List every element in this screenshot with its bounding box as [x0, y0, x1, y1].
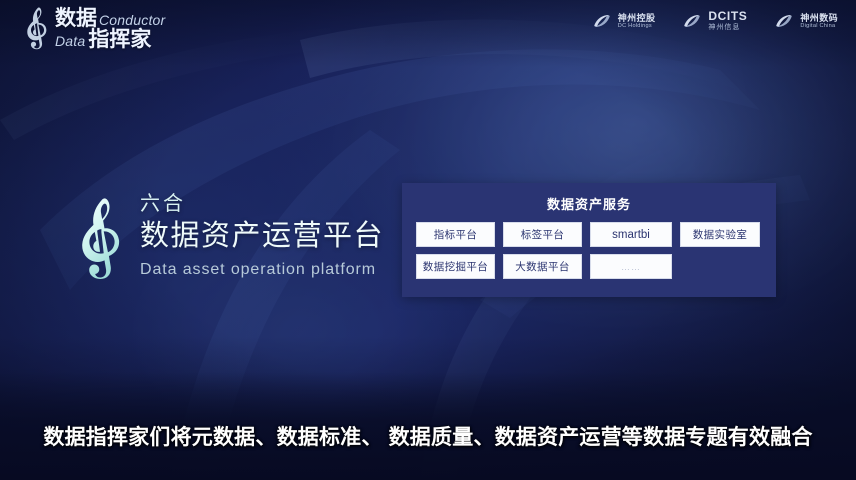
brand-logo[interactable]: 数据 Conductor Data 指挥家 — [22, 5, 165, 51]
hero-subtitle: Data asset operation platform — [140, 261, 384, 279]
panel-chip-grid: 指标平台 标签平台 smartbi 数据实验室 数据挖掘平台 大数据平台 …… — [416, 222, 762, 279]
brand-cn-2: 指挥家 — [88, 29, 151, 50]
chip-smartbi[interactable]: smartbi — [590, 222, 672, 247]
treble-clef-icon — [22, 5, 52, 51]
corp-name-en: 神州信息 — [708, 24, 747, 32]
brand-en-1: Conductor — [99, 13, 165, 27]
hero-main-title: 数据资产运营平台 — [140, 218, 384, 256]
hero-text: 六合 数据资产运营平台 Data asset operation platfor… — [140, 186, 384, 279]
corp-name-cn: DCITS — [708, 10, 747, 24]
swirl-logo-icon — [591, 10, 613, 32]
panel-row: 指标平台 标签平台 smartbi 数据实验室 — [416, 222, 762, 247]
corp-logo-digital-china[interactable]: 神州数码 Digital China — [773, 10, 838, 32]
treble-clef-icon — [72, 192, 130, 284]
data-asset-service-panel: 数据资产服务 指标平台 标签平台 smartbi 数据实验室 数据挖掘平台 大数… — [402, 183, 776, 297]
slide-root: 数据 Conductor Data 指挥家 神州控股 DC Holdings — [0, 0, 856, 480]
corp-logo-dcits[interactable]: DCITS 神州信息 — [681, 10, 747, 32]
chip-tag-platform[interactable]: 标签平台 — [503, 222, 582, 247]
corp-logo-dc-holdings[interactable]: 神州控股 DC Holdings — [591, 10, 656, 32]
corp-name-cn: 神州数码 — [800, 13, 838, 23]
brand-line-1: 数据 Conductor — [55, 8, 165, 29]
swirl-logo-icon — [681, 10, 703, 32]
chip-indicator-platform[interactable]: 指标平台 — [416, 222, 495, 247]
corp-logo-text: 神州数码 Digital China — [800, 13, 838, 30]
chip-big-data-platform[interactable]: 大数据平台 — [503, 254, 582, 279]
brand-wordmark: 数据 Conductor Data 指挥家 — [55, 6, 165, 50]
header-bar: 数据 Conductor Data 指挥家 神州控股 DC Holdings — [0, 0, 856, 58]
brand-line-2: Data 指挥家 — [55, 29, 165, 50]
chip-more-ellipsis[interactable]: …… — [590, 254, 672, 279]
corp-name-cn: 神州控股 — [618, 13, 656, 23]
swirl-logo-icon — [773, 10, 795, 32]
panel-title: 数据资产服务 — [402, 183, 776, 213]
corp-logo-text: DCITS 神州信息 — [708, 10, 747, 32]
brand-en-2: Data — [55, 34, 85, 48]
hero-title-block: 六合 数据资产运营平台 Data asset operation platfor… — [72, 186, 384, 284]
corp-name-en: DC Holdings — [618, 23, 656, 29]
caption-text: 数据指挥家们将元数据、数据标准、 数据质量、数据资产运营等数据专题有效融合 — [0, 421, 856, 451]
brand-cn-1: 数据 — [55, 8, 97, 29]
chip-data-mining-platform[interactable]: 数据挖掘平台 — [416, 254, 495, 279]
corp-logo-text: 神州控股 DC Holdings — [618, 13, 656, 30]
corp-name-en: Digital China — [800, 23, 838, 29]
hero-small-title: 六合 — [140, 192, 384, 217]
corporate-logo-group: 神州控股 DC Holdings DCITS 神州信息 — [591, 10, 838, 32]
panel-row: 数据挖掘平台 大数据平台 …… — [416, 254, 762, 279]
chip-data-lab[interactable]: 数据实验室 — [680, 222, 760, 247]
